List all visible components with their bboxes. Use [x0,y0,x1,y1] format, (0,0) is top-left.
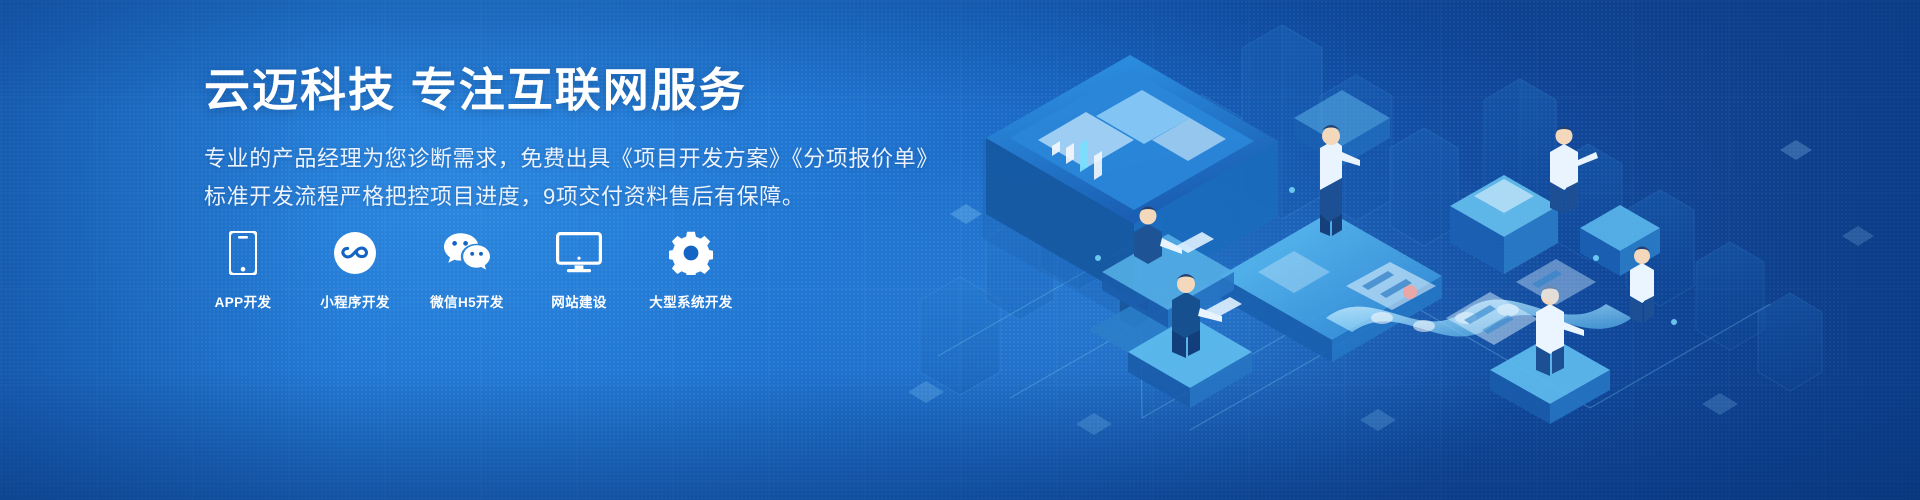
subtitle-line-2: 标准开发流程严格把控项目进度，9项交付资料售后有保障。 [204,179,964,215]
service-label: 小程序开发 [320,291,390,311]
service-label: 网站建设 [551,291,607,311]
subtitle-line-1: 专业的产品经理为您诊断需求，免费出具《项目开发方案》《分项报价单》 [204,141,964,177]
service-label: 微信H5开发 [430,291,504,311]
service-item-large-system[interactable]: 大型系统开发 [652,228,730,311]
service-list: APP开发 小程序开发 微信 [204,228,730,311]
wechat-icon [443,228,491,278]
service-label: 大型系统开发 [649,291,732,311]
monitor-icon [555,228,603,278]
mini-program-icon [331,228,379,278]
mobile-phone-icon [219,228,267,278]
gear-icon [667,228,715,278]
page-title: 云迈科技 专注互联网服务 [204,64,964,117]
service-item-mini-program[interactable]: 小程序开发 [316,228,394,311]
banner-copy: 云迈科技 专注互联网服务 专业的产品经理为您诊断需求，免费出具《项目开发方案》《… [204,64,964,215]
service-item-wechat-h5[interactable]: 微信H5开发 [428,228,506,311]
service-item-website[interactable]: 网站建设 [540,228,618,311]
service-item-app[interactable]: APP开发 [204,228,282,311]
hero-banner: 云迈科技 专注互联网服务 专业的产品经理为您诊断需求，免费出具《项目开发方案》《… [0,0,1920,500]
service-label: APP开发 [215,291,272,311]
